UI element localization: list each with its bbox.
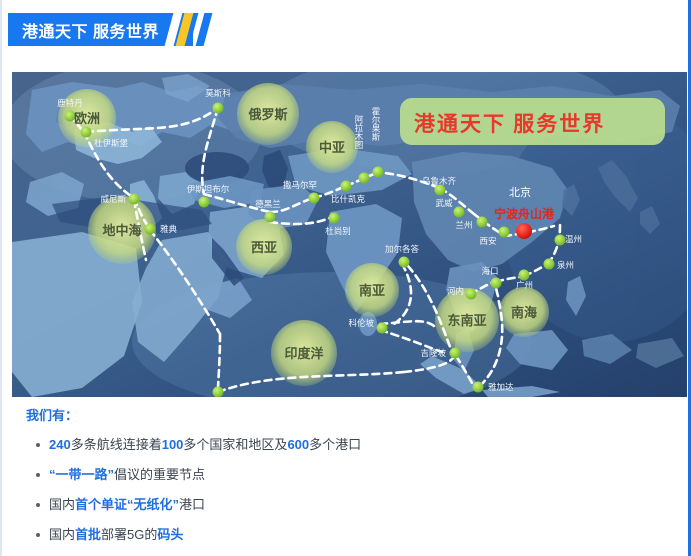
- region-label-west-asia: 西亚: [251, 240, 277, 255]
- city-label-bishkek: 比什凯克: [331, 194, 366, 204]
- port-dot: [491, 278, 502, 289]
- port-dot: [329, 213, 340, 224]
- plain-text: 多个港口: [309, 437, 361, 452]
- port-dot: [145, 224, 156, 235]
- list-item-text: 240多条航线连接着100多个国家和地区及600多个港口: [49, 436, 361, 453]
- city-label-samarkand: 撒马尔罕: [283, 180, 317, 190]
- port-dot: [435, 185, 446, 196]
- port-dot: [341, 181, 352, 192]
- city-label-moscow: 莫斯科: [205, 88, 231, 98]
- region-label-indian-ocean: 印度洋: [284, 346, 323, 361]
- plain-text: 国内: [49, 527, 75, 542]
- plain-text: 国内: [49, 497, 75, 512]
- port-dot: [454, 207, 465, 218]
- highlight-text: 240: [49, 437, 71, 452]
- bullet-dot-icon: [36, 443, 40, 447]
- city-label-kuala-lumpur: 吉隆坡: [420, 348, 446, 358]
- bullet-dot-icon: [36, 533, 40, 537]
- highlights-heading: 我们有：: [26, 405, 672, 424]
- slogan-banner-text: 港通天下 服务世界: [414, 112, 605, 136]
- banner-blue-edge: [196, 13, 213, 46]
- region-label-russia: 俄罗斯: [247, 107, 287, 122]
- highlight-text: 600: [287, 437, 309, 452]
- hub-label-ningbo-zhoushan: 宁波舟山港: [494, 206, 555, 221]
- port-dot: [265, 212, 276, 223]
- banner-title: 港通天下 服务世界: [22, 18, 159, 42]
- city-label-tehran: 德黑兰: [255, 199, 281, 209]
- highlight-text: “一带一路”: [49, 467, 114, 482]
- city-label-hanoi: 河内: [447, 286, 464, 296]
- list-item-text: “一带一路”倡议的重要节点: [49, 466, 205, 483]
- port-dot: [473, 382, 484, 393]
- city-label-istanbul: 伊斯坦布尔: [187, 184, 230, 194]
- port-dot: [359, 173, 370, 184]
- highlight-text: 码头: [157, 527, 183, 542]
- page-header: 港通天下 服务世界: [0, 0, 691, 56]
- bullet-dot-icon: [36, 473, 40, 477]
- highlight-text: 100: [162, 437, 184, 452]
- green-slogan-banner: 港通天下 服务世界: [400, 98, 665, 145]
- port-dot: [377, 323, 388, 334]
- port-dot: [81, 127, 92, 138]
- list-item: 240多条航线连接着100多个国家和地区及600多个港口: [36, 436, 672, 453]
- list-item: 国内首批部署5G的码头: [36, 526, 672, 543]
- map-canvas: 港通天下 服务世界 欧洲 俄罗斯 中亚 地中海 西亚 南亚 印度洋 东南亚 南海…: [12, 72, 687, 397]
- port-dot: [213, 103, 224, 114]
- port-dot: [499, 227, 510, 238]
- city-label-almaty: 阿拉木图: [354, 115, 364, 150]
- port-dot: [555, 235, 566, 246]
- port-dot: [466, 289, 477, 300]
- city-label-athens: 雅典: [160, 224, 178, 234]
- plain-text: 部署5G的: [101, 527, 157, 542]
- city-label-haikou: 海口: [481, 266, 498, 276]
- port-dot: [477, 217, 488, 228]
- highlight-text: 首批: [75, 527, 101, 542]
- city-label-xian: 西安: [479, 236, 496, 246]
- plain-text: 多条航线连接着: [71, 437, 162, 452]
- plain-text: 多个国家和地区及: [183, 437, 287, 452]
- list-item: “一带一路”倡议的重要节点: [36, 466, 672, 483]
- port-dot: [199, 197, 210, 208]
- highlights-list: 240多条航线连接着100多个国家和地区及600多个港口“一带一路”倡议的重要节…: [12, 436, 672, 543]
- hub-marker-ningbo-zhoushan[interactable]: [516, 223, 532, 239]
- header-banner: 港通天下 服务世界: [8, 13, 193, 46]
- city-label-guangzhou: 广州: [516, 280, 533, 290]
- port-dot: [399, 257, 410, 268]
- city-label-quanzhou: 泉州: [557, 260, 574, 270]
- city-label-dushanbe: 杜尚别: [325, 226, 351, 236]
- city-label-wenzhou: 温州: [565, 234, 582, 244]
- city-label-duisburg: 杜伊斯堡: [94, 138, 129, 148]
- region-label-south-asia: 南亚: [359, 283, 385, 298]
- plain-text: 港口: [179, 497, 205, 512]
- port-dot: [129, 194, 140, 205]
- city-label-venice: 威尼斯: [100, 194, 126, 204]
- highlights-section: 我们有： 240多条航线连接着100多个国家和地区及600多个港口“一带一路”倡…: [12, 405, 672, 556]
- port-dot: [450, 348, 461, 359]
- list-item-text: 国内首个单证“无纸化”港口: [49, 496, 205, 513]
- list-item: 国内首个单证“无纸化”港口: [36, 496, 672, 513]
- city-label-rotterdam: 鹿特丹: [57, 98, 83, 108]
- plain-text: 倡议的重要节点: [114, 467, 205, 482]
- port-dot: [544, 259, 555, 270]
- region-label-southeast-asia: 东南亚: [447, 313, 486, 328]
- capital-label-beijing: 北京: [509, 185, 531, 199]
- list-item-text: 国内首批部署5G的码头: [49, 526, 183, 543]
- port-dot: [373, 167, 384, 178]
- region-label-europe: 欧洲: [74, 111, 100, 126]
- region-label-mediterranean: 地中海: [102, 223, 141, 238]
- city-label-jakarta: 雅加达: [488, 382, 514, 392]
- city-label-colombo: 科伦坡: [348, 318, 374, 328]
- port-dot: [309, 193, 320, 204]
- highlight-text: 首个单证“无纸化”: [75, 497, 179, 512]
- port-dot: [519, 270, 530, 281]
- city-label-lanzhou: 兰州: [455, 220, 472, 230]
- port-dot: [213, 387, 224, 398]
- city-label-khorgas: 霍尔果斯: [371, 107, 381, 142]
- region-label-south-china-sea: 南海: [511, 305, 537, 320]
- world-route-map[interactable]: 港通天下 服务世界 欧洲 俄罗斯 中亚 地中海 西亚 南亚 印度洋 东南亚 南海…: [12, 72, 687, 397]
- bullet-dot-icon: [36, 503, 40, 507]
- city-label-urumqi: 乌鲁木齐: [422, 176, 457, 186]
- region-label-central-asia: 中亚: [319, 140, 345, 155]
- city-label-kolkata: 加尔各答: [385, 244, 420, 254]
- city-label-wuwei: 武威: [435, 198, 453, 208]
